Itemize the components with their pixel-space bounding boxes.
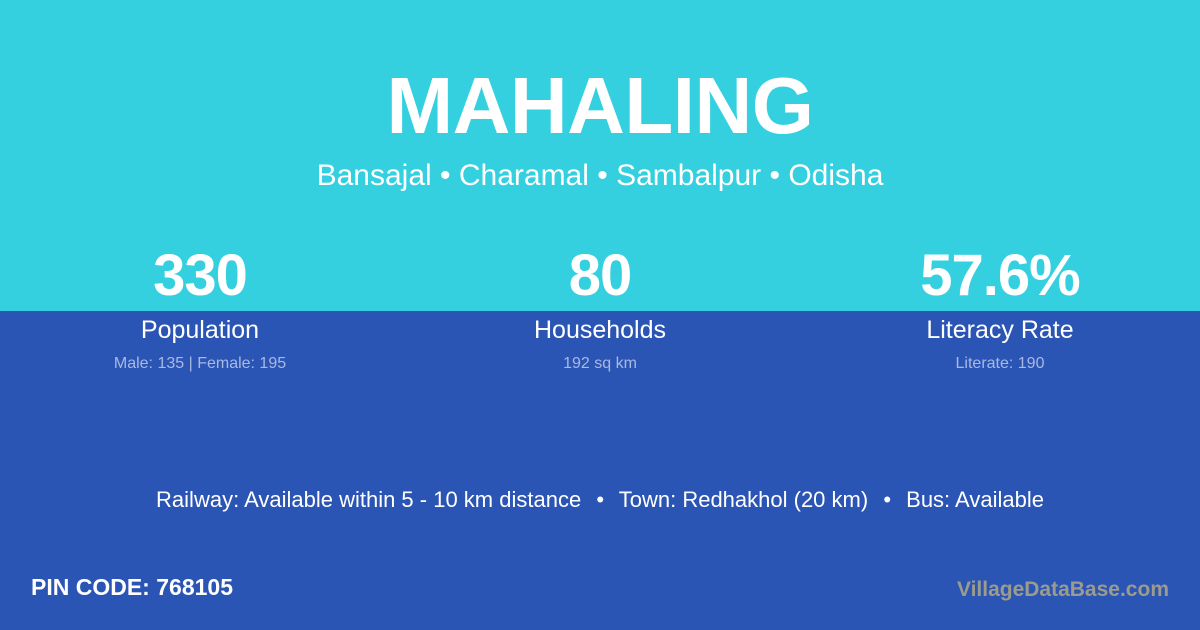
stat-population: 330 Population Male: 135 | Female: 195	[0, 243, 400, 374]
stat-label: Population	[0, 315, 400, 345]
site-brand: VillageDataBase.com	[957, 577, 1169, 603]
stat-sublabel: Literate: 190	[800, 354, 1200, 374]
stat-value: 57.6%	[800, 243, 1200, 309]
pin-code: PIN CODE: 768105	[31, 573, 233, 601]
stat-label: Households	[400, 315, 800, 345]
stat-value: 80	[400, 243, 800, 309]
amenity-town: Town: Redhakhol (20 km)	[619, 487, 868, 512]
stat-literacy-rate: 57.6% Literacy Rate Literate: 190	[800, 243, 1200, 374]
breadcrumb: Bansajal • Charamal • Sambalpur • Odisha	[0, 158, 1200, 194]
bullet-separator-icon: •	[587, 487, 613, 512]
stat-label: Literacy Rate	[800, 315, 1200, 345]
stats-row: 330 Population Male: 135 | Female: 195 8…	[0, 243, 1200, 374]
page-title: MAHALING	[0, 62, 1200, 150]
stat-value: 330	[0, 243, 400, 309]
amenities-row: Railway: Available within 5 - 10 km dist…	[0, 485, 1200, 515]
stat-households: 80 Households 192 sq km	[400, 243, 800, 374]
village-info-card: MAHALING Bansajal • Charamal • Sambalpur…	[0, 0, 1200, 630]
amenity-bus: Bus: Available	[906, 487, 1044, 512]
amenity-railway: Railway: Available within 5 - 10 km dist…	[156, 487, 581, 512]
stat-sublabel: 192 sq km	[400, 354, 800, 374]
bullet-separator-icon: •	[874, 487, 900, 512]
stat-sublabel: Male: 135 | Female: 195	[0, 354, 400, 374]
title-block: MAHALING Bansajal • Charamal • Sambalpur…	[0, 62, 1200, 194]
